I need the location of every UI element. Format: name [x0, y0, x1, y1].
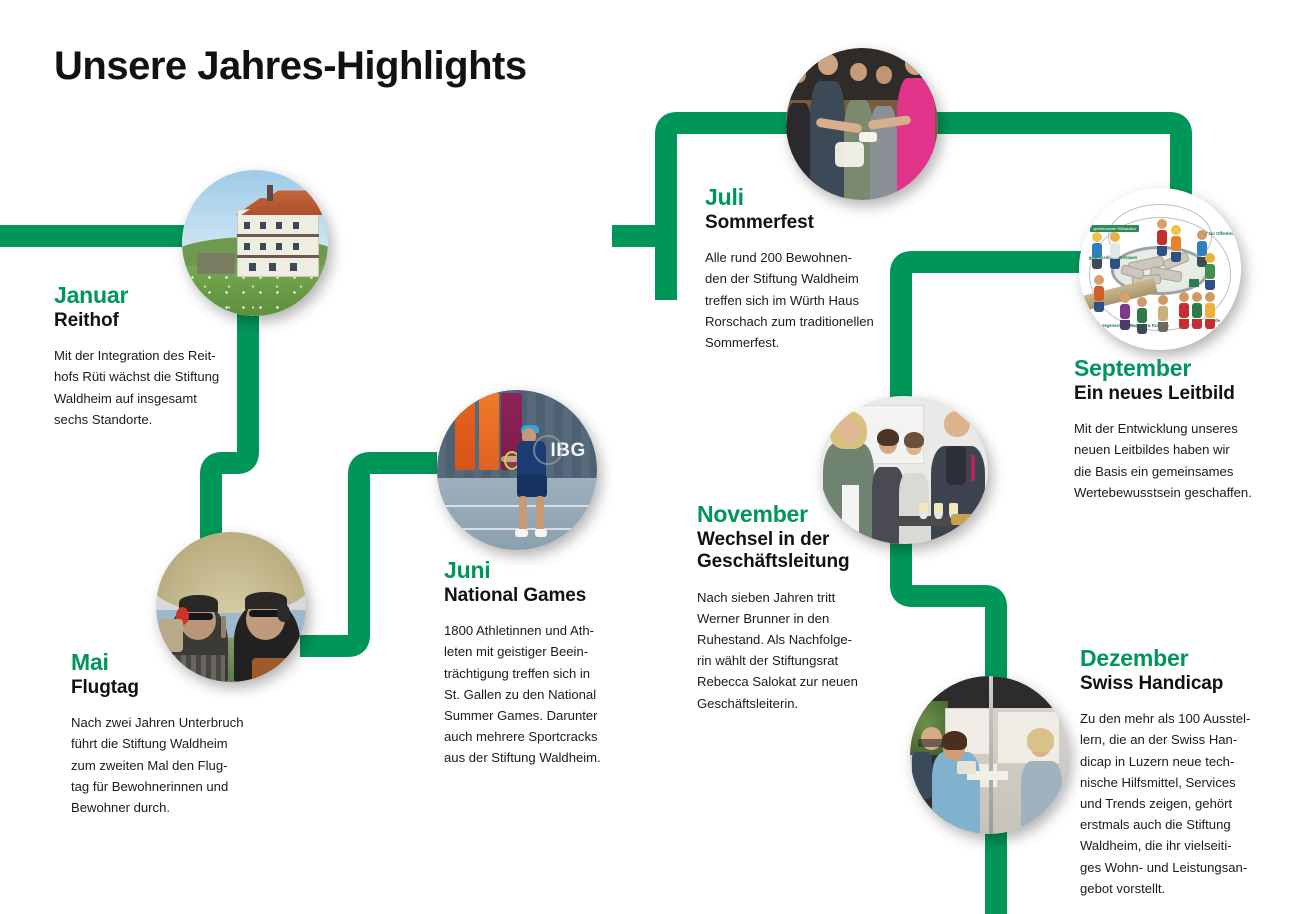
entry-body-juli: Alle rund 200 Bewohnen- den der Stiftung…	[705, 247, 920, 353]
entry-month-juni: Juni	[444, 558, 659, 584]
entry-headline-juni: National Games	[444, 585, 659, 607]
photo-circle-leitbild: gemeinsame Wirtskultur gegenseitiges Ver…	[1079, 188, 1241, 350]
entry-juni: Juni National Games 1800 Athletinnen und…	[444, 558, 659, 769]
entry-dezember: Dezember Swiss Handicap Zu den mehr als …	[1080, 646, 1293, 899]
entry-month-dezember: Dezember	[1080, 646, 1293, 672]
entry-headline-mai: Flugtag	[71, 677, 286, 699]
entry-month-september: September	[1074, 356, 1289, 382]
entry-juli: Juli Sommerfest Alle rund 200 Bewohnen- …	[705, 185, 920, 353]
photo-circle-swiss-handicap	[910, 676, 1068, 834]
entry-month-juli: Juli	[705, 185, 920, 211]
entry-januar: Januar Reithof Mit der Integration des R…	[54, 283, 264, 430]
entry-headline-juli: Sommerfest	[705, 212, 920, 234]
infographic-canvas: Unsere Jahres-Highlights	[0, 0, 1293, 914]
photo-circle-national-games: IBG	[437, 390, 597, 550]
swiss-handicap-messe-photo	[910, 676, 1068, 834]
entry-mai: Mai Flugtag Nach zwei Jahren Unterbruch …	[71, 650, 286, 818]
entry-november: November Wechsel in der Geschäftsleitung…	[697, 502, 912, 714]
entry-headline-januar: Reithof	[54, 310, 264, 332]
entry-body-januar: Mit der Integration des Reit- hofs Rüti …	[54, 345, 264, 430]
entry-month-januar: Januar	[54, 283, 264, 309]
entry-body-november: Nach sieben Jahren tritt Werner Brunner …	[697, 587, 912, 714]
entry-body-september: Mit der Entwicklung unseres neuen Leitbi…	[1074, 418, 1289, 503]
leitbild-illustration: gemeinsame Wirtskultur gegenseitiges Ver…	[1079, 188, 1241, 350]
entry-month-mai: Mai	[71, 650, 286, 676]
page-title: Unsere Jahres-Highlights	[54, 44, 527, 89]
entry-headline-november: Wechsel in der Geschäftsleitung	[697, 529, 912, 574]
entry-body-juni: 1800 Athletinnen und Ath- leten mit geis…	[444, 620, 659, 768]
national-games-tennis-photo: IBG	[437, 390, 597, 550]
entry-headline-september: Ein neues Leitbild	[1074, 383, 1289, 405]
sommerfest-crowd-photo	[786, 48, 938, 200]
photo-circle-sommerfest	[786, 48, 938, 200]
entry-september: September Ein neues Leitbild Mit der Ent…	[1074, 356, 1289, 503]
entry-headline-dezember: Swiss Handicap	[1080, 673, 1293, 695]
entry-body-mai: Nach zwei Jahren Unterbruch führt die St…	[71, 712, 286, 818]
entry-body-dezember: Zu den mehr als 100 Ausstel- lern, die a…	[1080, 708, 1293, 899]
entry-month-november: November	[697, 502, 912, 528]
